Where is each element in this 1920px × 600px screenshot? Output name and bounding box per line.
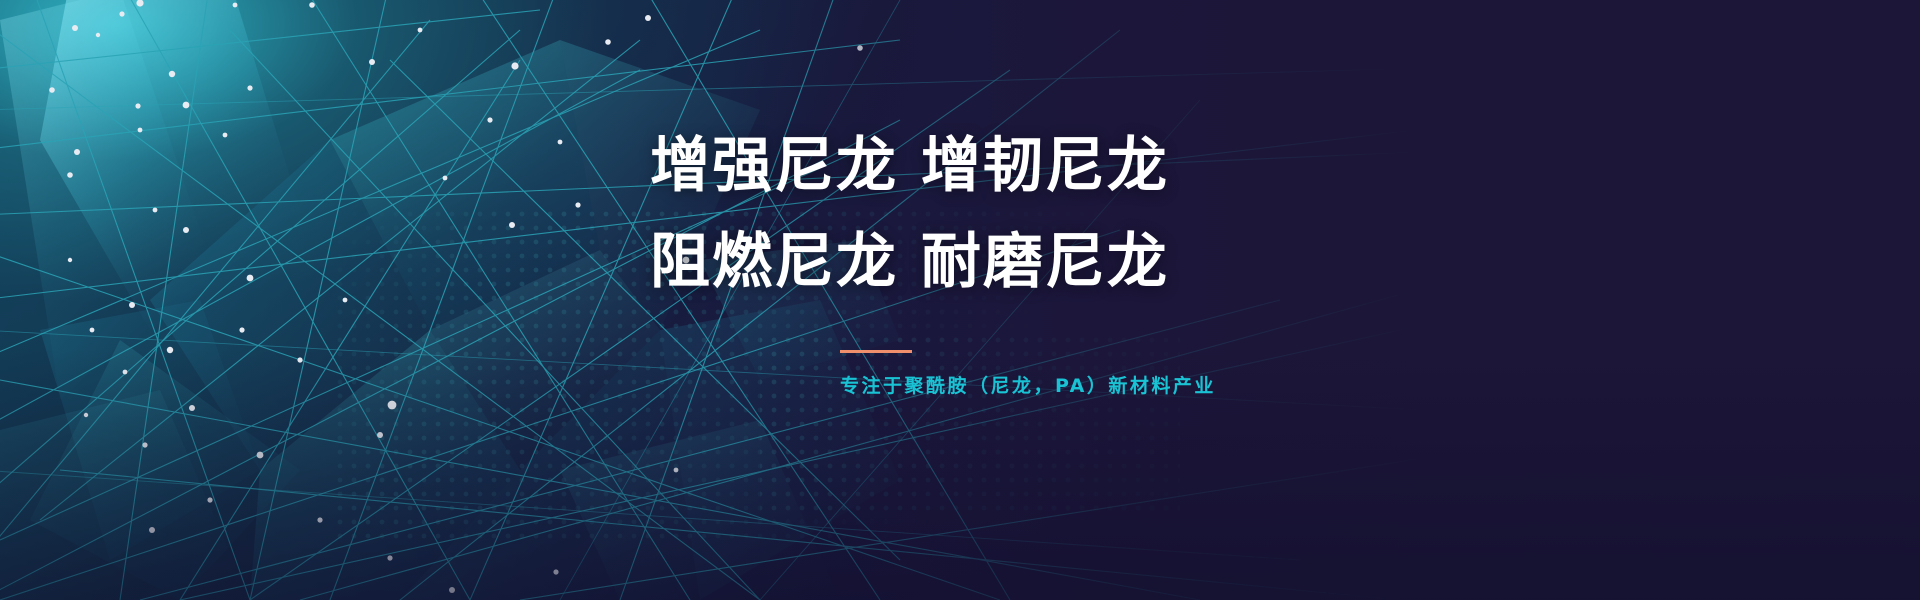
headline-line-1: 增强尼龙 增韧尼龙 bbox=[650, 118, 1270, 214]
headline-line-2: 阻燃尼龙 耐磨尼龙 bbox=[650, 214, 1270, 310]
divider-wrapper bbox=[650, 350, 1270, 353]
hero-banner: 增强尼龙 增韧尼龙 阻燃尼龙 耐磨尼龙 专注于聚酰胺（尼龙，PA）新材料产业 bbox=[0, 0, 1920, 600]
subtitle: 专注于聚酰胺（尼龙，PA）新材料产业 bbox=[650, 371, 1270, 398]
accent-divider bbox=[840, 350, 912, 353]
banner-content: 增强尼龙 增韧尼龙 阻燃尼龙 耐磨尼龙 专注于聚酰胺（尼龙，PA）新材料产业 bbox=[650, 118, 1270, 398]
